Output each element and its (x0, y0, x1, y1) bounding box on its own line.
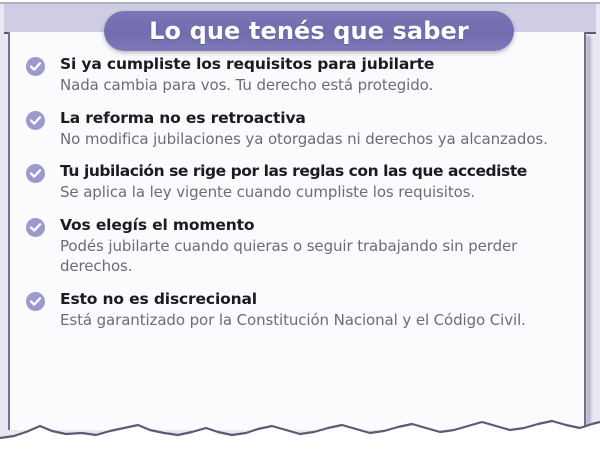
check-circle-icon (26, 164, 45, 183)
list-item: La reforma no es retroactiva No modifica… (26, 109, 586, 150)
torn-paper-edge (0, 414, 600, 452)
page-title: Lo que tenés que saber (149, 17, 469, 45)
check-circle-icon (26, 57, 45, 76)
checklist: Si ya cumpliste los requisitos para jubi… (26, 55, 586, 330)
list-item-title: La reforma no es retroactiva (60, 109, 586, 128)
check-circle-icon (26, 292, 45, 311)
list-item-title: Esto no es discrecional (60, 290, 586, 309)
check-circle-icon (26, 218, 45, 237)
list-item: Tu jubilación se rige por las reglas con… (26, 162, 586, 203)
list-item-body: Nada cambia para vos. Tu derecho está pr… (60, 75, 586, 96)
card-shadow (586, 36, 591, 432)
list-item: Vos elegís el momento Podés jubilarte cu… (26, 216, 586, 277)
list-item-body: Se aplica la ley vigente cuando cumplist… (60, 182, 586, 203)
list-item: Esto no es discrecional Está garantizado… (26, 290, 586, 331)
check-circle-icon (26, 111, 45, 130)
list-item: Si ya cumpliste los requisitos para jubi… (26, 55, 586, 96)
list-item-title: Si ya cumpliste los requisitos para jubi… (60, 55, 586, 74)
list-item-title: Tu jubilación se rige por las reglas con… (60, 162, 586, 181)
list-item-title: Vos elegís el momento (60, 216, 586, 235)
list-item-body: Podés jubilarte cuando quieras o seguir … (60, 236, 586, 277)
list-item-body: No modifica jubilaciones ya otorgadas ni… (60, 129, 586, 150)
infographic-card-scene: Lo que tenés que saber Si ya cumpliste l… (0, 0, 600, 452)
header-pill: Lo que tenés que saber (104, 11, 514, 51)
list-item-body: Está garantizado por la Constitución Nac… (60, 310, 586, 331)
